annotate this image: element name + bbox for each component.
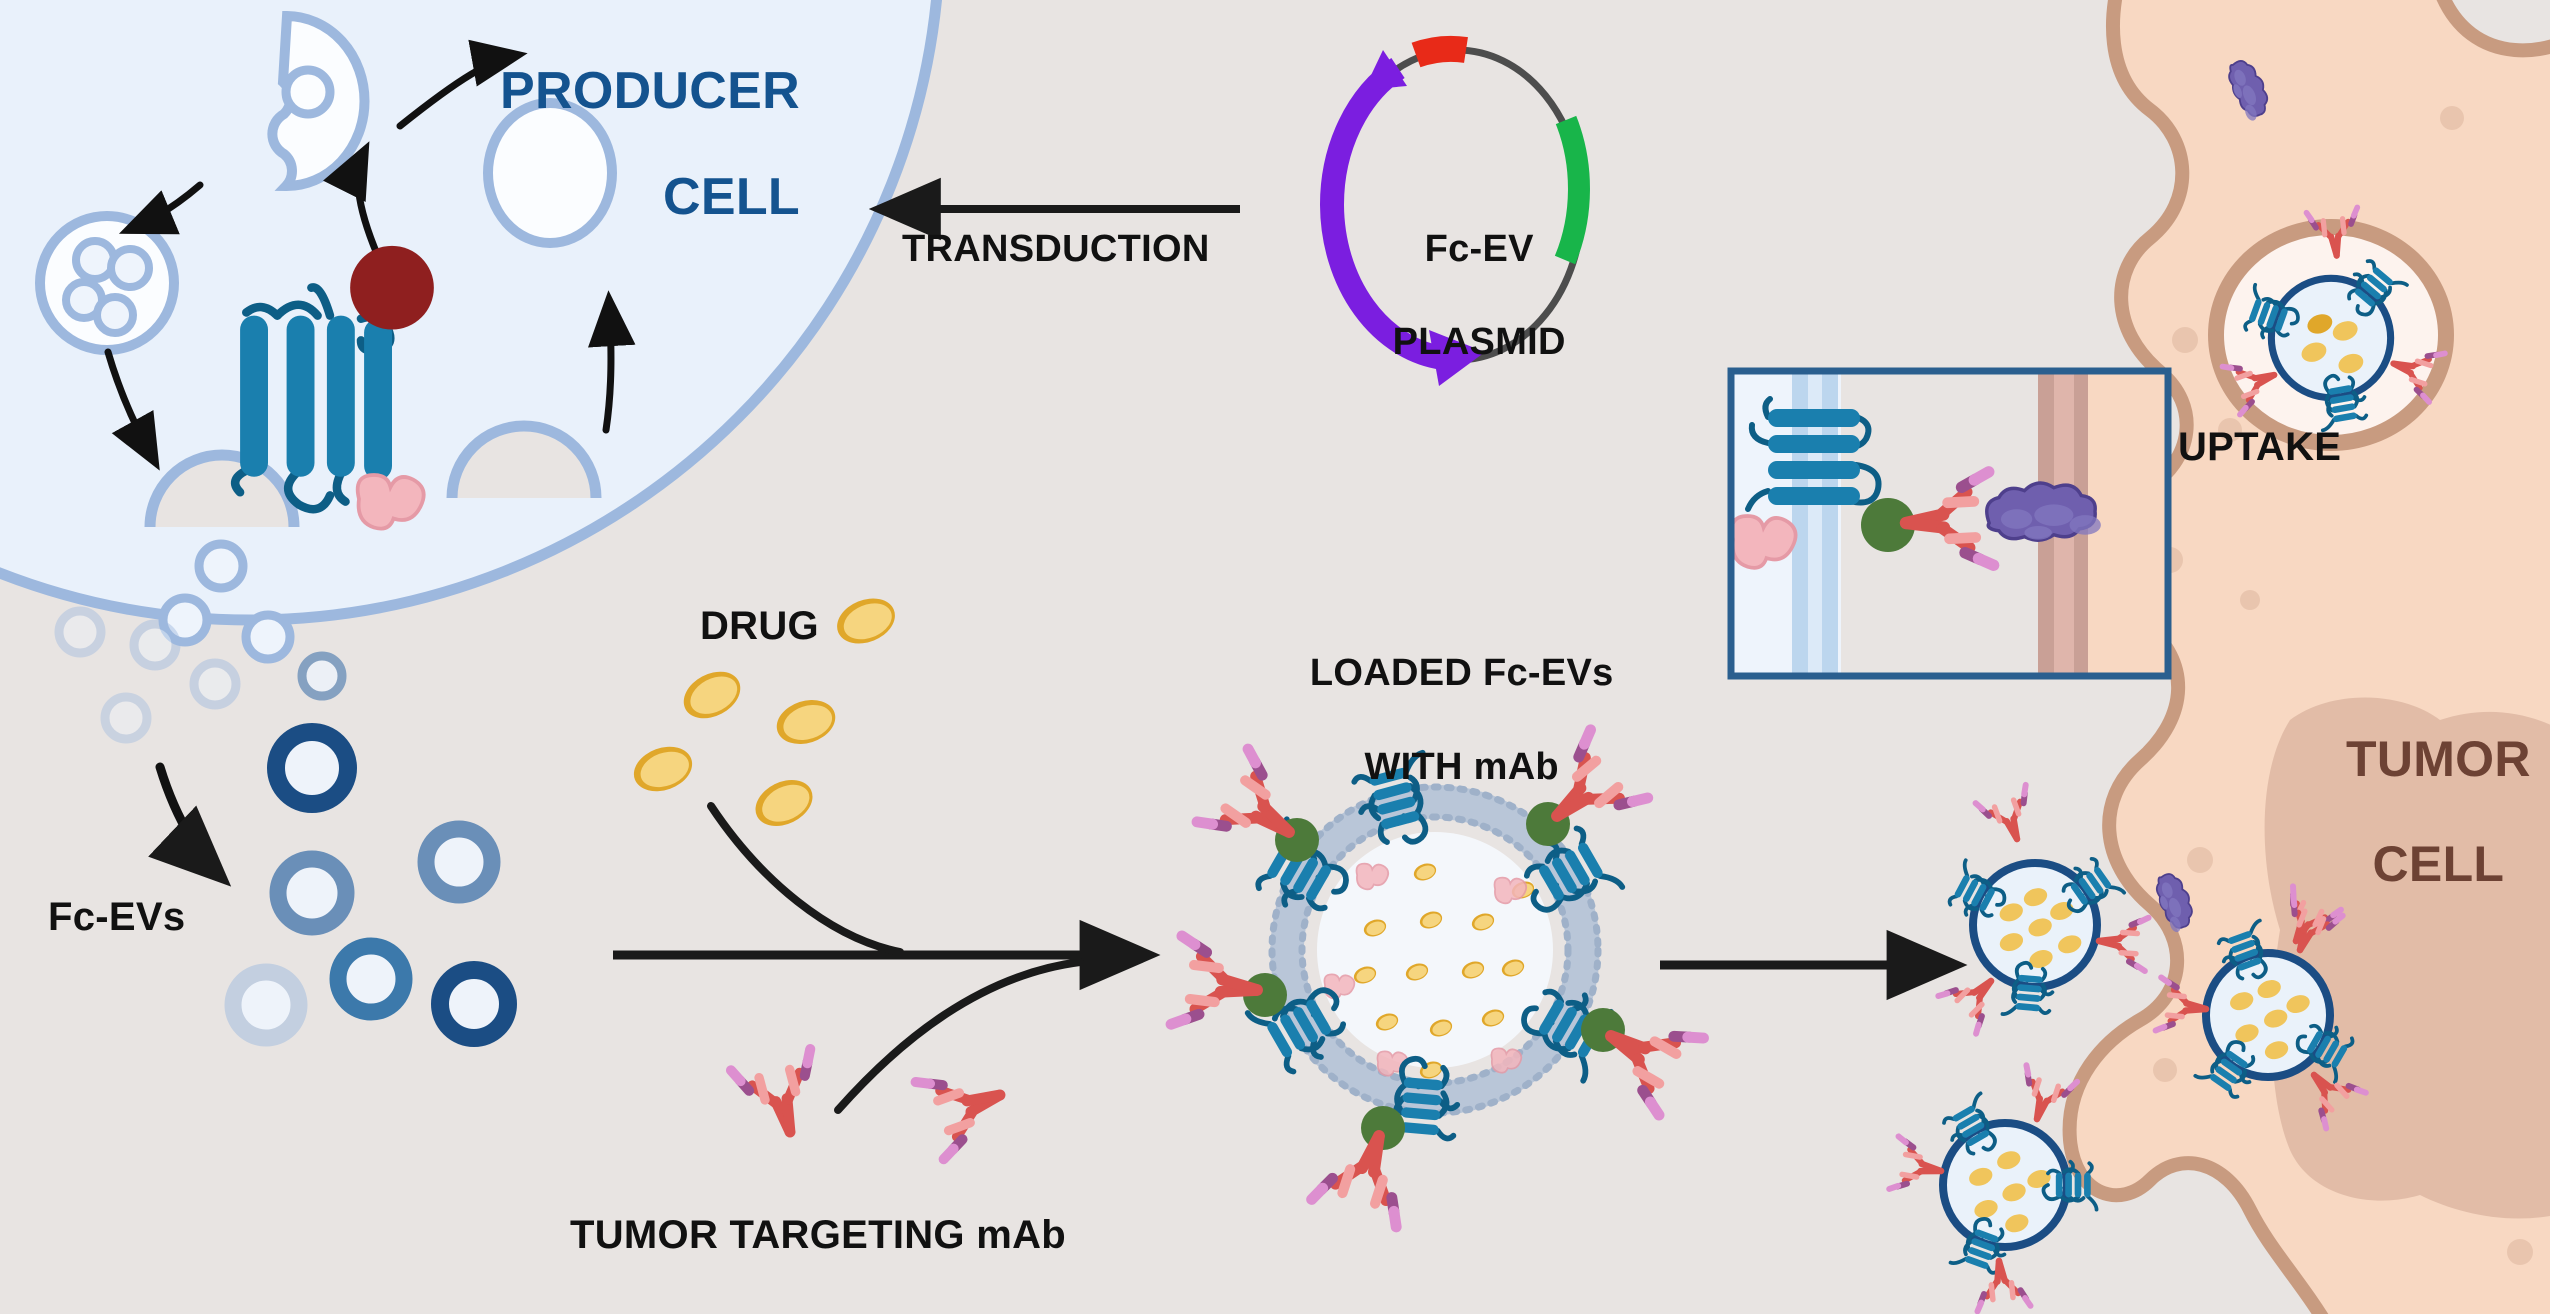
fc-ev-pool: [233, 732, 508, 1038]
transduction-label: TRANSDUCTION: [902, 228, 1210, 271]
tumor-targeting-mab-2: [916, 1056, 1014, 1159]
delivered-fc-ev-3: [1889, 1065, 2096, 1311]
producer-cell-label: PRODUCER CELL: [380, 12, 800, 277]
tumor-targeting-mab-label: TUMOR TARGETING mAb: [570, 1213, 1066, 1258]
ev-release-arrow: [160, 767, 222, 878]
drug-feed-arrow: [711, 806, 900, 952]
diagram-canvas: PRODUCER CELL TRANSDUCTION Fc-EV PLASMID…: [0, 0, 2550, 1314]
uptake-label: UPTAKE: [2178, 425, 2341, 470]
binding-detail-inset: [1731, 371, 2168, 676]
fc-evs-label: Fc-EVs: [48, 895, 185, 940]
bound-antibody-4: [1581, 997, 1703, 1115]
tumor-targeting-mab-1: [731, 1049, 830, 1143]
loaded-fc-evs-label: LOADED Fc-EVs WITH mAb: [1245, 603, 1635, 839]
plasmid-label: Fc-EV PLASMID: [1335, 180, 1580, 412]
tumor-cell-label: TUMOR CELL: [2240, 680, 2550, 943]
organelle-multivesicular-body: [40, 216, 174, 350]
mab-feed-arrow: [838, 962, 1080, 1110]
drug-label: DRUG: [700, 604, 819, 649]
